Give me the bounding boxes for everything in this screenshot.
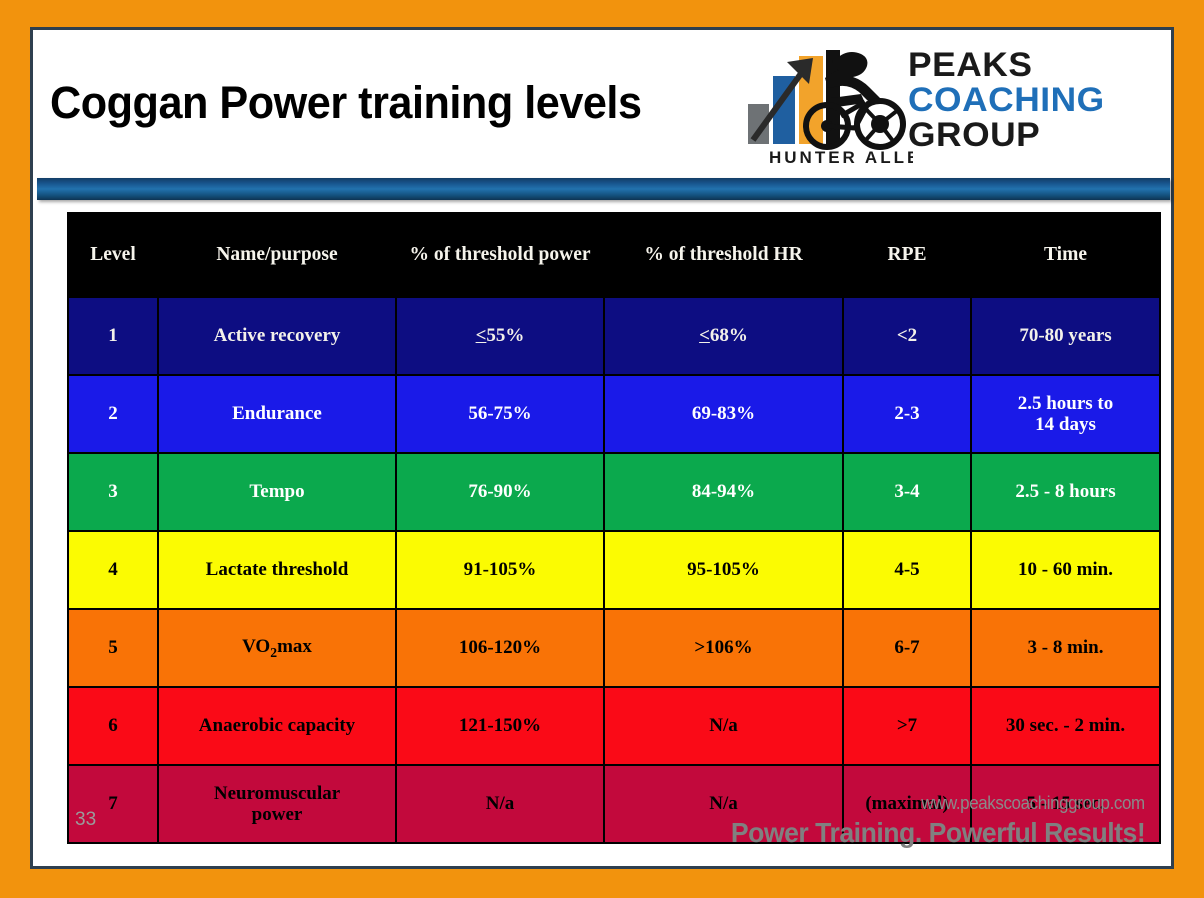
cell-time: 10 - 60 min. [971, 531, 1160, 609]
cell-power: 76-90% [396, 453, 604, 531]
logo-wordmark: PEAKS COACHING GROUP [908, 48, 1154, 153]
cell-rpe: 3-4 [843, 453, 971, 531]
cell-power: 106-120% [396, 609, 604, 687]
cell-level: 2 [68, 375, 158, 453]
table-row: 5 VO2max 106-120% >106% 6-7 3 - 8 min. [68, 609, 1160, 687]
cell-power: N/a [396, 765, 604, 843]
logo-mark-graphic: HUNTER ALLEN [743, 44, 913, 168]
cell-level: 5 [68, 609, 158, 687]
cell-power: <55% [396, 297, 604, 375]
slide-frame: Coggan Power training levels [30, 27, 1174, 869]
cell-hr: <68% [604, 297, 843, 375]
footer-website-url: www.peakscoachinggroup.com [922, 793, 1145, 814]
cell-power: 91-105% [396, 531, 604, 609]
cell-hr: 84-94% [604, 453, 843, 531]
cell-time: 3 - 8 min. [971, 609, 1160, 687]
cyclist-icon [825, 52, 881, 107]
cell-time: 2.5 - 8 hours [971, 453, 1160, 531]
power-levels-table: Level Name/purpose % of threshold power … [67, 212, 1161, 844]
table-row: 4 Lactate threshold 91-105% 95-105% 4-5 … [68, 531, 1160, 609]
cell-name: VO2max [158, 609, 396, 687]
title-band: Coggan Power training levels [33, 30, 1171, 174]
cell-name: Anaerobic capacity [158, 687, 396, 765]
page-title: Coggan Power training levels [50, 77, 641, 129]
cell-time: 30 sec. - 2 min. [971, 687, 1160, 765]
peaks-coaching-group-logo: HUNTER ALLEN PEAKS COACHING GROUP [743, 44, 1153, 168]
cell-hr: 69-83% [604, 375, 843, 453]
column-header-rpe: RPE [843, 213, 971, 297]
cell-power: 121-150% [396, 687, 604, 765]
logo-subtitle: HUNTER ALLEN [769, 148, 913, 167]
cell-rpe: >7 [843, 687, 971, 765]
cell-rpe: <2 [843, 297, 971, 375]
column-header-hr: % of threshold HR [604, 213, 843, 297]
accent-separator-bar [37, 178, 1170, 200]
cell-rpe: 6-7 [843, 609, 971, 687]
table-row: 6 Anaerobic capacity 121-150% N/a >7 30 … [68, 687, 1160, 765]
table-row: 2 Endurance 56-75% 69-83% 2-3 2.5 hours … [68, 375, 1160, 453]
cell-rpe: 2-3 [843, 375, 971, 453]
table-row: 3 Tempo 76-90% 84-94% 3-4 2.5 - 8 hours [68, 453, 1160, 531]
cell-hr: >106% [604, 609, 843, 687]
cell-level: 3 [68, 453, 158, 531]
cell-name: Tempo [158, 453, 396, 531]
cell-level: 1 [68, 297, 158, 375]
cell-name: Lactate threshold [158, 531, 396, 609]
cell-power: 56-75% [396, 375, 604, 453]
cell-level: 7 [68, 765, 158, 843]
cell-name: Neuromuscularpower [158, 765, 396, 843]
table-header-row: Level Name/purpose % of threshold power … [68, 213, 1160, 297]
logo-wordmark-line-3: GROUP [908, 118, 1164, 153]
cell-time: 70-80 years [971, 297, 1160, 375]
column-header-name: Name/purpose [158, 213, 396, 297]
cell-name: Active recovery [158, 297, 396, 375]
cell-time: 2.5 hours to14 days [971, 375, 1160, 453]
column-header-power: % of threshold power [396, 213, 604, 297]
cell-level: 6 [68, 687, 158, 765]
footer-tagline: Power Training. Powerful Results! [731, 817, 1145, 849]
cell-hr: N/a [604, 687, 843, 765]
cell-level: 4 [68, 531, 158, 609]
cell-rpe: 4-5 [843, 531, 971, 609]
logo-wordmark-line-2: COACHING [908, 83, 1164, 118]
logo-wordmark-line-1: PEAKS [908, 48, 1164, 83]
column-header-time: Time [971, 213, 1160, 297]
column-header-level: Level [68, 213, 158, 297]
cell-name: Endurance [158, 375, 396, 453]
page-number: 33 [75, 809, 96, 831]
cell-hr: 95-105% [604, 531, 843, 609]
table-row: 1 Active recovery <55% <68% <2 70-80 yea… [68, 297, 1160, 375]
